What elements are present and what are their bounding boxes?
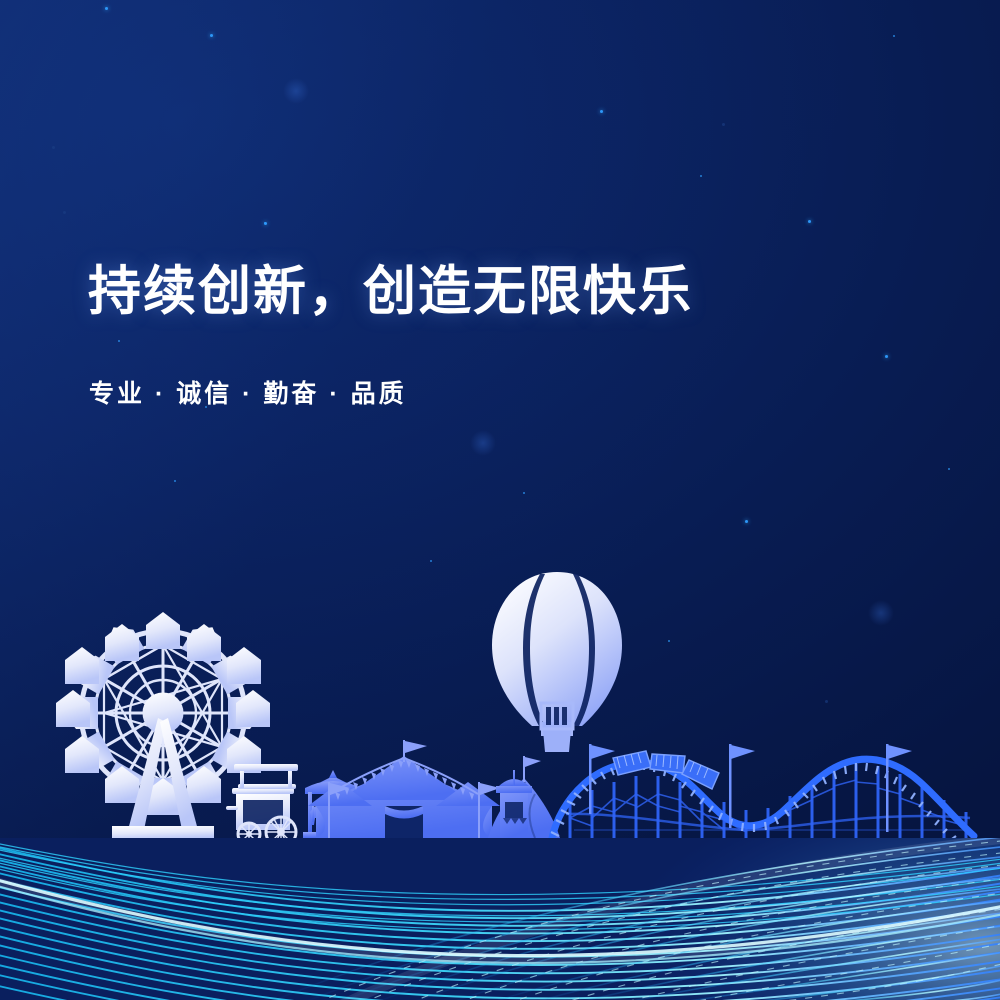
wave-mesh xyxy=(0,0,1000,1000)
poster-canvas: 持续创新，创造无限快乐 专业 · 诚信 · 勤奋 · 品质 xyxy=(0,0,1000,1000)
